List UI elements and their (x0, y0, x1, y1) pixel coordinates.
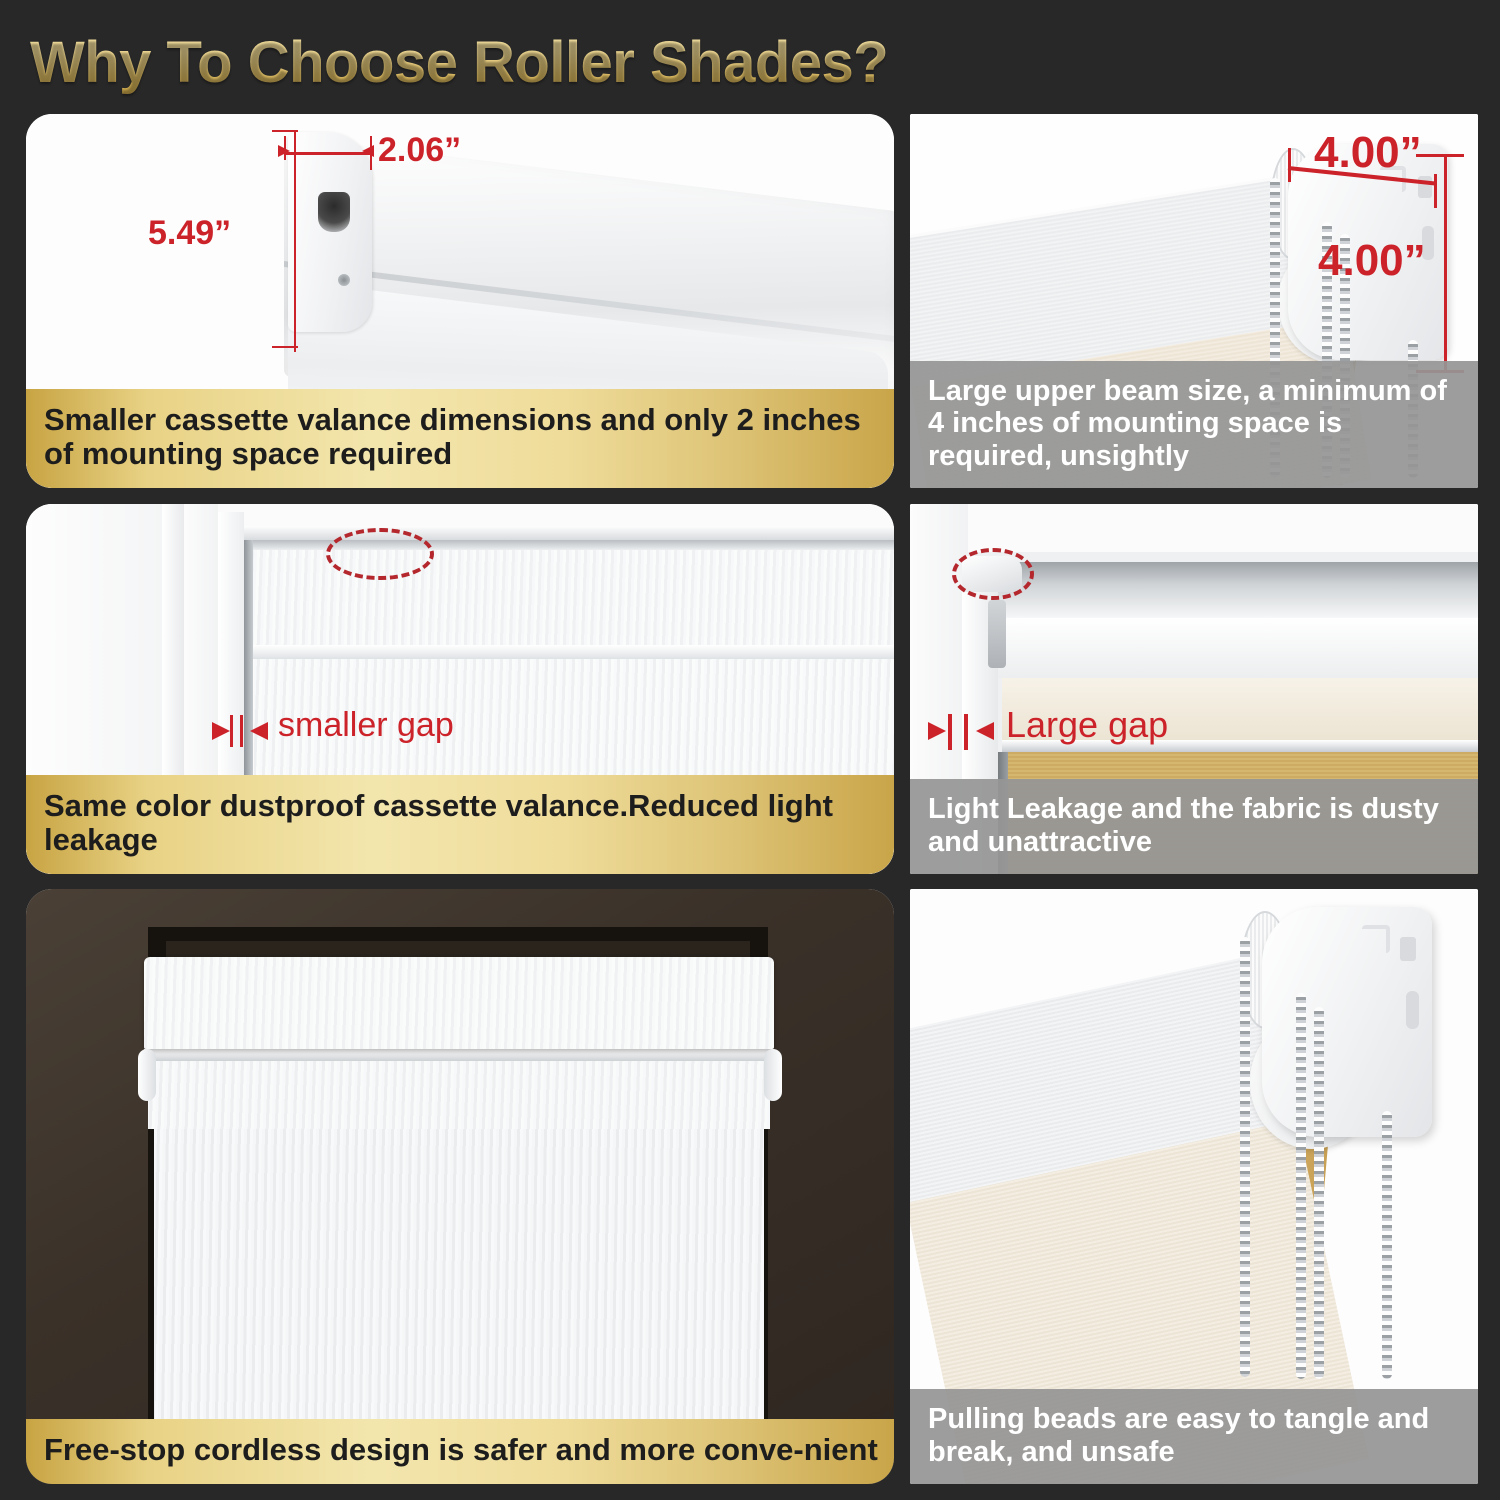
panel-con-beam-size[interactable]: 4.00” 4.00” Large upper beam size, a min… (910, 114, 1478, 488)
dimension-label-beam-height: 4.00” (1318, 236, 1426, 286)
caption-con-beam-size: Large upper beam size, a minimum of 4 in… (910, 361, 1478, 488)
bead-chain (1314, 1007, 1324, 1379)
gap-arrow-right (976, 722, 994, 740)
panel-con-pull-beads[interactable]: Pulling beads are easy to tangle and bre… (910, 889, 1478, 1484)
comparison-grid: 2.06” 5.49” Smaller cassette valance dim… (26, 114, 1478, 1484)
gap-arrow-right (250, 722, 268, 740)
gap-arrow-left (212, 722, 230, 740)
room-window-photo (26, 889, 894, 1484)
bead-chain (1240, 937, 1250, 1377)
caption-con-light-leakage: Light Leakage and the fabric is dusty an… (910, 779, 1478, 874)
dimension-label-beam-width: 4.00” (1314, 128, 1422, 178)
gap-label-large: Large gap (1006, 704, 1168, 746)
dimension-label-height: 5.49” (148, 214, 231, 253)
caption-pro-dustproof-valance: Same color dustproof cassette valance.Re… (26, 775, 894, 874)
dimension-label-width: 2.06” (378, 131, 461, 170)
panel-pro-dustproof-valance[interactable]: smaller gap Same color dustproof cassett… (26, 504, 894, 874)
caption-pro-cassette-size: Smaller cassette valance dimensions and … (26, 389, 894, 488)
caption-pro-cordless-design: Free-stop cordless design is safer and m… (26, 1419, 894, 1484)
gap-arrow-left (928, 722, 946, 740)
bead-chain (1296, 993, 1306, 1379)
panel-con-light-leakage[interactable]: Large gap Light Leakage and the fabric i… (910, 504, 1478, 874)
gap-highlight-ring (326, 528, 434, 580)
panel-pro-cassette-size[interactable]: 2.06” 5.49” Smaller cassette valance dim… (26, 114, 894, 488)
bead-chain (1382, 1111, 1392, 1379)
panel-pro-cordless-design[interactable]: Free-stop cordless design is safer and m… (26, 889, 894, 1484)
caption-con-pull-beads: Pulling beads are easy to tangle and bre… (910, 1389, 1478, 1484)
page-title: Why To Choose Roller Shades? (30, 29, 888, 96)
page-header: Why To Choose Roller Shades? (30, 22, 1470, 102)
gap-label-smaller: smaller gap (278, 706, 454, 745)
gap-highlight-ring (952, 548, 1034, 600)
